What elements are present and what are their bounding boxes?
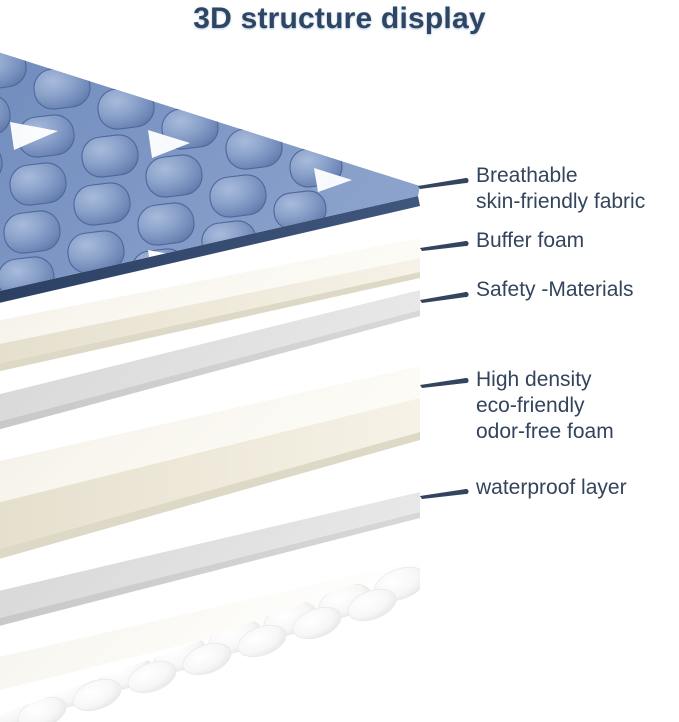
callout-label-safety-materials: Safety -Materials bbox=[476, 277, 634, 303]
mattress-layer-stack bbox=[0, 0, 679, 722]
structure-diagram-page: 3D structure display bbox=[0, 0, 679, 722]
callout-label-waterproof-layer: waterproof layer bbox=[476, 475, 627, 501]
leader-line-foam bbox=[420, 378, 469, 388]
callout-label-high-density-foam: High density eco-friendly odor-free foam bbox=[476, 367, 614, 445]
leader-line-safety bbox=[420, 292, 469, 303]
callout-leader-lines bbox=[418, 178, 469, 499]
leader-line-fabric bbox=[418, 178, 469, 189]
callout-label-buffer-foam: Buffer foam bbox=[476, 228, 584, 254]
leader-line-buffer bbox=[420, 241, 469, 251]
callout-label-breathable-fabric: Breathable skin-friendly fabric bbox=[476, 163, 645, 215]
leader-line-waterproof bbox=[420, 489, 469, 499]
